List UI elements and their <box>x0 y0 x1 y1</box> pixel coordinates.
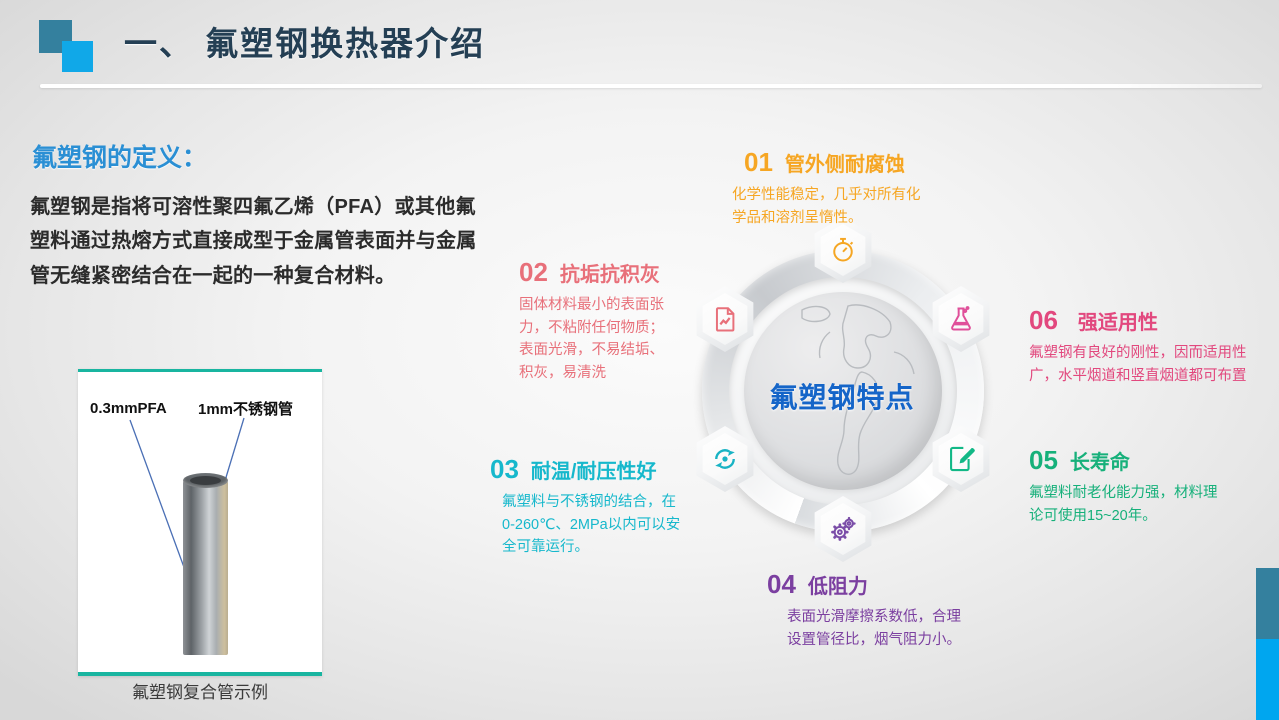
feature-title: 长寿命 <box>1070 446 1130 475</box>
feature-body: 化学性能稳定，几乎对所有化学品和溶剂呈惰性。 <box>732 184 932 229</box>
recycle-icon <box>692 426 758 492</box>
feature-title: 强适用性 <box>1078 306 1158 335</box>
pipe-body <box>183 480 228 655</box>
slide-root: 一、 氟塑钢换热器介绍 氟塑钢的定义： 氟塑钢是指将可溶性聚四氟乙烯（PFA）或… <box>0 0 1279 720</box>
gears-icon <box>810 496 876 562</box>
hex-node-gears[interactable] <box>810 496 876 562</box>
diagram-center-label: 氟塑钢特点 <box>672 376 1012 416</box>
definition-body: 氟塑钢是指将可溶性聚四氟乙烯（PFA）或其他氟塑料通过热熔方式直接成型于金属管表… <box>30 190 495 293</box>
feature-number: 03 <box>490 456 519 482</box>
flask-icon <box>928 286 994 352</box>
feature-number: 04 <box>767 571 796 597</box>
feature-body: 固体材料最小的表面张力，不粘附任何物质；表面光滑，不易结垢、积灰，易清洗 <box>519 294 669 384</box>
edge-accent-top <box>1256 568 1279 639</box>
definition-title: 氟塑钢的定义： <box>32 138 207 174</box>
feature-title: 抗垢抗积灰 <box>560 258 660 287</box>
composite-pipe-photo: 0.3mmPFA 1mm不锈钢管 <box>78 369 322 676</box>
hex-node-recycle[interactable] <box>692 426 758 492</box>
chart-document-icon <box>692 286 758 352</box>
hex-node-chart-document[interactable] <box>692 286 758 352</box>
feature-06: 06 强适用性 氟塑钢有良好的刚性，因而适用性广，水平烟道和竖直烟道都可布置 <box>1029 306 1251 387</box>
header-divider <box>40 84 1262 88</box>
feature-02: 02 抗垢抗积灰 固体材料最小的表面张力，不粘附任何物质；表面光滑，不易结垢、积… <box>519 258 669 384</box>
feature-title: 管外侧耐腐蚀 <box>785 148 905 177</box>
pipe-bore <box>190 476 221 485</box>
feature-body: 氟塑料与不锈钢的结合，在0-260℃、2MPa以内可以安全可靠运行。 <box>502 491 688 559</box>
hex-node-flask[interactable] <box>928 286 994 352</box>
feature-03: 03 耐温/耐压性好 氟塑料与不锈钢的结合，在0-260℃、2MPa以内可以安全… <box>490 455 688 559</box>
feature-number: 05 <box>1029 447 1058 473</box>
feature-number: 06 <box>1029 307 1058 333</box>
feature-number: 02 <box>519 259 548 285</box>
edge-accent-bottom <box>1256 639 1279 720</box>
feature-01: 01 管外侧耐腐蚀 化学性能稳定，几乎对所有化学品和溶剂呈惰性。 <box>744 148 932 229</box>
page-title: 一、 氟塑钢换热器介绍 <box>124 17 485 65</box>
hex-node-edit-document[interactable] <box>928 426 994 492</box>
feature-body: 氟塑钢有良好的刚性，因而适用性广，水平烟道和竖直烟道都可布置 <box>1029 342 1251 387</box>
features-circle-diagram: 氟塑钢特点 <box>672 228 1012 578</box>
feature-body: 氟塑料耐老化能力强，材料理论可使用15~20年。 <box>1029 482 1229 527</box>
feature-number: 01 <box>744 149 773 175</box>
feature-title: 低阻力 <box>808 570 868 599</box>
feature-body: 表面光滑摩擦系数低，合理设置管径比，烟气阻力小。 <box>787 606 962 651</box>
feature-05: 05 长寿命 氟塑料耐老化能力强，材料理论可使用15~20年。 <box>1029 446 1229 527</box>
photo-caption: 氟塑钢复合管示例 <box>78 678 322 703</box>
logo-square-light <box>62 41 93 72</box>
feature-title: 耐温/耐压性好 <box>531 455 657 484</box>
feature-04: 04 低阻力 表面光滑摩擦系数低，合理设置管径比，烟气阻力小。 <box>767 570 962 651</box>
edit-document-icon <box>928 426 994 492</box>
